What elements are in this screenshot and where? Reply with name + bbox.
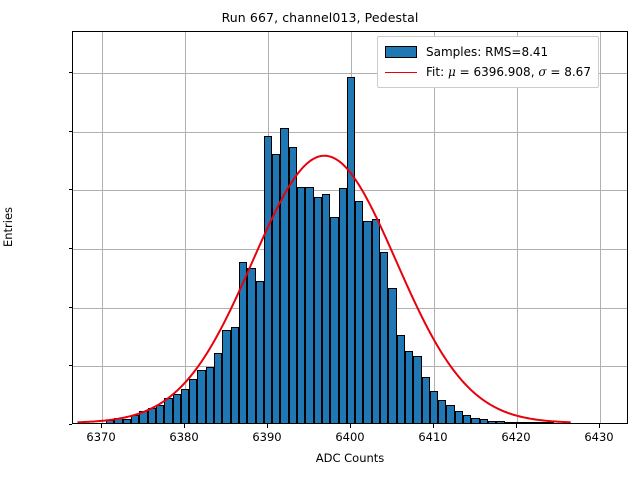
legend-line-icon bbox=[385, 72, 417, 73]
y-tick-mark bbox=[69, 307, 73, 308]
x-tick-mark bbox=[516, 424, 517, 428]
x-tick-label: 6430 bbox=[584, 430, 613, 444]
x-tick-label: 6420 bbox=[501, 430, 530, 444]
y-axis-label: Entries bbox=[1, 207, 15, 247]
x-tick-label: 6400 bbox=[335, 430, 364, 444]
x-tick-label: 6380 bbox=[169, 430, 198, 444]
y-tick-mark bbox=[69, 72, 73, 73]
y-tick-mark bbox=[69, 131, 73, 132]
chart-title: Run 667, channel013, Pedestal bbox=[0, 10, 640, 25]
y-tick-mark bbox=[69, 248, 73, 249]
legend-patch-icon bbox=[385, 46, 417, 58]
x-tick-mark bbox=[599, 424, 600, 428]
fit-mu: 6396.908 bbox=[473, 65, 530, 79]
y-tick-mark bbox=[69, 424, 73, 425]
gaussian-fit-curve bbox=[73, 32, 627, 423]
legend-label-fit: Fit: μ = 6396.908, σ = 8.67 bbox=[426, 65, 591, 79]
x-axis-label: ADC Counts bbox=[72, 451, 628, 465]
y-tick-mark bbox=[69, 365, 73, 366]
y-tick-mark bbox=[69, 189, 73, 190]
x-tick-mark bbox=[350, 424, 351, 428]
x-tick-label: 6370 bbox=[86, 430, 115, 444]
legend-label-samples: Samples: RMS=8.41 bbox=[426, 45, 548, 59]
x-tick-label: 6410 bbox=[418, 430, 447, 444]
x-tick-mark bbox=[184, 424, 185, 428]
fit-path bbox=[77, 156, 570, 423]
legend: Samples: RMS=8.41 Fit: μ = 6396.908, σ =… bbox=[377, 36, 599, 88]
x-tick-label: 6390 bbox=[252, 430, 281, 444]
figure: Run 667, channel013, Pedestal 0100200300… bbox=[0, 0, 640, 480]
legend-item-fit: Fit: μ = 6396.908, σ = 8.67 bbox=[385, 62, 591, 82]
legend-item-samples: Samples: RMS=8.41 bbox=[385, 42, 591, 62]
x-tick-mark bbox=[101, 424, 102, 428]
fit-sigma: 8.67 bbox=[564, 65, 591, 79]
x-tick-mark bbox=[433, 424, 434, 428]
x-tick-mark bbox=[267, 424, 268, 428]
plot-area bbox=[72, 31, 628, 424]
